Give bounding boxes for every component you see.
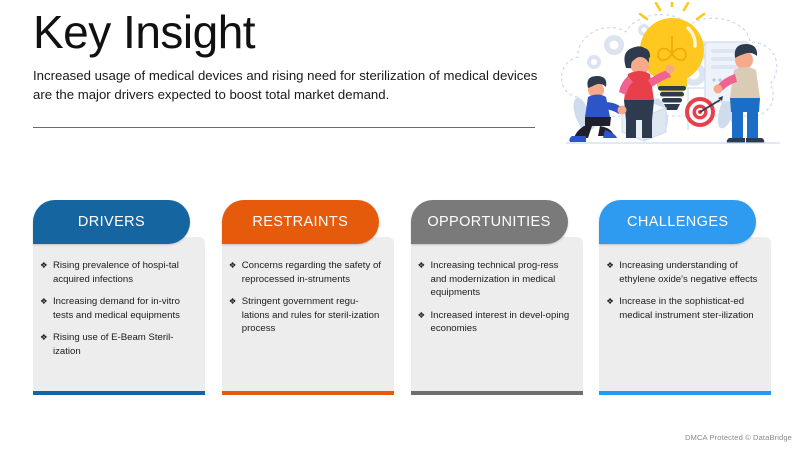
bullet-list-drivers: ❖Rising prevalence of hospi-tal acquired… (40, 259, 195, 359)
header: Key Insight Increased usage of medical d… (33, 8, 553, 104)
bullet-list-challenges: ❖Increasing understanding of ethylene ox… (606, 259, 761, 322)
card-drivers[interactable]: ❖Rising prevalence of hospi-tal acquired… (33, 200, 203, 395)
card-tab-label: RESTRAINTS (252, 214, 348, 230)
card-body-challenges: ❖Increasing understanding of ethylene ox… (599, 237, 771, 395)
list-item: ❖Rising prevalence of hospi-tal acquired… (40, 259, 195, 286)
diamond-bullet-icon: ❖ (40, 259, 48, 272)
card-accent-bar-challenges (599, 391, 771, 395)
diamond-bullet-icon: ❖ (606, 295, 614, 308)
card-accent-bar-opportunities (411, 391, 583, 395)
list-item: ❖Increased interest in devel-oping econo… (418, 309, 573, 336)
diamond-bullet-icon: ❖ (40, 295, 48, 308)
card-body-restraints: ❖Concerns regarding the safety of reproc… (222, 237, 394, 395)
list-item: ❖Rising use of E-Beam Steril-ization (40, 331, 195, 358)
list-item: ❖Increasing understanding of ethylene ox… (606, 259, 761, 286)
list-item: ❖Stringent government regu-lations and r… (229, 295, 384, 336)
list-item: ❖Increasing demand for in-vitro tests an… (40, 295, 195, 322)
card-tab-label: DRIVERS (78, 214, 145, 230)
card-tab-restraints[interactable]: RESTRAINTS (222, 200, 379, 244)
lightbulb-rays (640, 2, 704, 19)
diamond-bullet-icon: ❖ (418, 259, 426, 272)
bullet-list-restraints: ❖Concerns regarding the safety of reproc… (229, 259, 384, 336)
list-item-text: Increasing understanding of ethylene oxi… (619, 260, 757, 285)
list-item-text: Increased interest in devel-oping econom… (431, 310, 570, 335)
diamond-bullet-icon: ❖ (606, 259, 614, 272)
list-item-text: Stringent government regu-lations and ru… (242, 296, 380, 334)
list-item-text: Increase in the sophisticat-ed medical i… (619, 296, 753, 321)
card-tab-opportunities[interactable]: OPPORTUNITIES (411, 200, 568, 244)
cards-container: ❖Rising prevalence of hospi-tal acquired… (33, 200, 769, 395)
list-item-text: Concerns regarding the safety of reproce… (242, 260, 381, 285)
diamond-bullet-icon: ❖ (229, 295, 237, 308)
diamond-bullet-icon: ❖ (418, 309, 426, 322)
card-accent-bar-drivers (33, 391, 205, 395)
card-body-drivers: ❖Rising prevalence of hospi-tal acquired… (33, 237, 205, 395)
bullet-list-opportunities: ❖Increasing technical prog-ress and mode… (418, 259, 573, 336)
header-divider (33, 127, 535, 128)
list-item: ❖Concerns regarding the safety of reproc… (229, 259, 384, 286)
list-item-text: Rising use of E-Beam Steril-ization (53, 332, 174, 357)
page-title: Key Insight (33, 8, 553, 58)
list-item-text: Increasing technical prog-ress and moder… (431, 260, 559, 298)
card-restraints[interactable]: ❖Concerns regarding the safety of reproc… (222, 200, 392, 395)
list-item: ❖Increase in the sophisticat-ed medical … (606, 295, 761, 322)
dartboard-target-icon (685, 96, 723, 127)
card-body-opportunities: ❖Increasing technical prog-ress and mode… (411, 237, 583, 395)
slide-root: Key Insight Increased usage of medical d… (0, 0, 800, 450)
card-challenges[interactable]: ❖Increasing understanding of ethylene ox… (599, 200, 769, 395)
list-item-text: Rising prevalence of hospi-tal acquired … (53, 260, 179, 285)
card-tab-label: OPPORTUNITIES (427, 214, 550, 230)
illustration-svg (548, 2, 796, 162)
card-tab-drivers[interactable]: DRIVERS (33, 200, 190, 244)
diamond-bullet-icon: ❖ (229, 259, 237, 272)
card-opportunities[interactable]: ❖Increasing technical prog-ress and mode… (411, 200, 581, 395)
idea-teamwork-illustration (548, 2, 796, 162)
diamond-bullet-icon: ❖ (40, 331, 48, 344)
list-item-text: Increasing demand for in-vitro tests and… (53, 296, 180, 321)
card-tab-challenges[interactable]: CHALLENGES (599, 200, 756, 244)
page-subtitle: Increased usage of medical devices and r… (33, 66, 545, 104)
list-item: ❖Increasing technical prog-ress and mode… (418, 259, 573, 300)
card-accent-bar-restraints (222, 391, 394, 395)
card-tab-label: CHALLENGES (627, 214, 729, 230)
footer-copyright: DMCA Protected © DataBridge (685, 433, 792, 442)
